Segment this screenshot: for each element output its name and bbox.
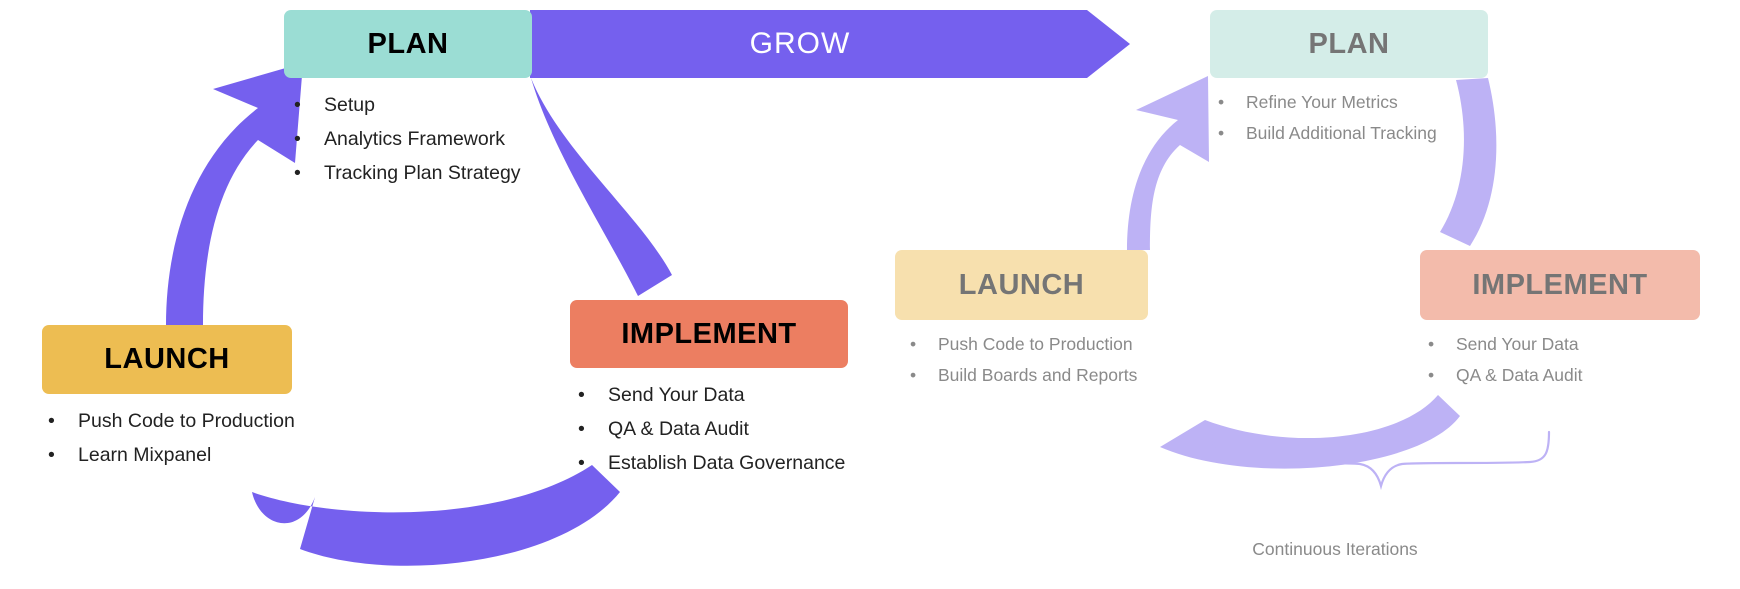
bullet-dot: • <box>48 410 55 433</box>
list-item: • Setup <box>294 94 532 117</box>
bullet-text: Build Boards and Reports <box>938 365 1137 386</box>
bullet-text: Push Code to Production <box>78 410 295 433</box>
stage-plan-faded: PLAN • Refine Your Metrics • Build Addit… <box>1210 10 1488 144</box>
arrow-implement-to-launch <box>252 465 620 566</box>
continuous-iterations-brace <box>1213 432 1549 486</box>
list-item: • Build Boards and Reports <box>910 365 1148 386</box>
stage-implement-faded-header: IMPLEMENT <box>1420 250 1700 320</box>
bullet-dot: • <box>910 334 916 355</box>
list-item: • Learn Mixpanel <box>48 444 292 467</box>
bullet-dot: • <box>294 94 301 117</box>
arrow-plan-to-implement <box>531 78 672 296</box>
bullet-dot: • <box>578 452 585 475</box>
list-item: • Push Code to Production <box>910 334 1148 355</box>
stage-launch-active-header: LAUNCH <box>42 325 292 394</box>
stage-launch-faded-bullets: • Push Code to Production • Build Boards… <box>910 334 1148 386</box>
stage-plan-active-bullets: • Setup • Analytics Framework • Tracking… <box>294 94 532 185</box>
stage-implement-active-bullets: • Send Your Data • QA & Data Audit • Est… <box>578 384 848 475</box>
bullet-text: Setup <box>324 94 375 117</box>
bullet-text: Analytics Framework <box>324 128 505 151</box>
stage-launch-active-bullets: • Push Code to Production • Learn Mixpan… <box>48 410 292 467</box>
bullet-text: Send Your Data <box>608 384 745 407</box>
bullet-text: QA & Data Audit <box>608 418 749 441</box>
grow-label: GROW <box>530 10 1070 78</box>
list-item: • QA & Data Audit <box>1428 365 1700 386</box>
bullet-text: Send Your Data <box>1456 334 1579 355</box>
list-item: • Establish Data Governance <box>578 452 848 475</box>
bullet-dot: • <box>1218 123 1224 144</box>
stage-implement-faded-title: IMPLEMENT <box>1472 271 1647 300</box>
bullet-dot: • <box>578 418 585 441</box>
stage-implement-active-header: IMPLEMENT <box>570 300 848 368</box>
lifecycle-diagram: GROW PLAN • Setup • Analytics Framework … <box>0 0 1740 589</box>
stage-implement-active: IMPLEMENT • Send Your Data • QA & Data A… <box>570 300 848 475</box>
bullet-dot: • <box>294 162 301 185</box>
list-item: • Send Your Data <box>1428 334 1700 355</box>
arrow-launch-to-plan-faded <box>1127 76 1209 250</box>
bullet-text: Build Additional Tracking <box>1246 123 1437 144</box>
list-item: • QA & Data Audit <box>578 418 848 441</box>
bullet-dot: • <box>294 128 301 151</box>
list-item: • Push Code to Production <box>48 410 292 433</box>
continuous-iterations-label: Continuous Iterations <box>1145 539 1525 560</box>
bullet-text: QA & Data Audit <box>1456 365 1582 386</box>
bullet-text: Establish Data Governance <box>608 452 845 475</box>
bullet-text: Tracking Plan Strategy <box>324 162 521 185</box>
stage-launch-active-title: LAUNCH <box>104 345 229 374</box>
stage-plan-active-header: PLAN <box>284 10 532 78</box>
bullet-dot: • <box>1218 92 1224 113</box>
list-item: • Refine Your Metrics <box>1218 92 1488 113</box>
bullet-dot: • <box>1428 365 1434 386</box>
stage-launch-faded: LAUNCH • Push Code to Production • Build… <box>895 250 1148 386</box>
stage-implement-faded: IMPLEMENT • Send Your Data • QA & Data A… <box>1420 250 1700 386</box>
bullet-dot: • <box>910 365 916 386</box>
arrow-implement-to-launch-faded <box>1160 395 1460 469</box>
bullet-dot: • <box>578 384 585 407</box>
stage-launch-faded-title: LAUNCH <box>959 271 1084 300</box>
stage-launch-faded-header: LAUNCH <box>895 250 1148 320</box>
stage-plan-faded-header: PLAN <box>1210 10 1488 78</box>
stage-implement-active-title: IMPLEMENT <box>621 320 796 349</box>
arrow-launch-to-plan <box>166 63 303 325</box>
stage-plan-active-title: PLAN <box>368 30 449 59</box>
bullet-text: Push Code to Production <box>938 334 1133 355</box>
stage-plan-faded-title: PLAN <box>1309 30 1390 59</box>
grow-banner: GROW <box>530 10 1130 78</box>
stage-implement-faded-bullets: • Send Your Data • QA & Data Audit <box>1428 334 1700 386</box>
stage-launch-active: LAUNCH • Push Code to Production • Learn… <box>42 325 292 467</box>
bullet-text: Refine Your Metrics <box>1246 92 1398 113</box>
bullet-text: Learn Mixpanel <box>78 444 211 467</box>
stage-plan-faded-bullets: • Refine Your Metrics • Build Additional… <box>1218 92 1488 144</box>
stage-plan-active: PLAN • Setup • Analytics Framework • Tra… <box>284 10 532 185</box>
list-item: • Build Additional Tracking <box>1218 123 1488 144</box>
list-item: • Analytics Framework <box>294 128 532 151</box>
bullet-dot: • <box>48 444 55 467</box>
bullet-dot: • <box>1428 334 1434 355</box>
list-item: • Send Your Data <box>578 384 848 407</box>
list-item: • Tracking Plan Strategy <box>294 162 532 185</box>
